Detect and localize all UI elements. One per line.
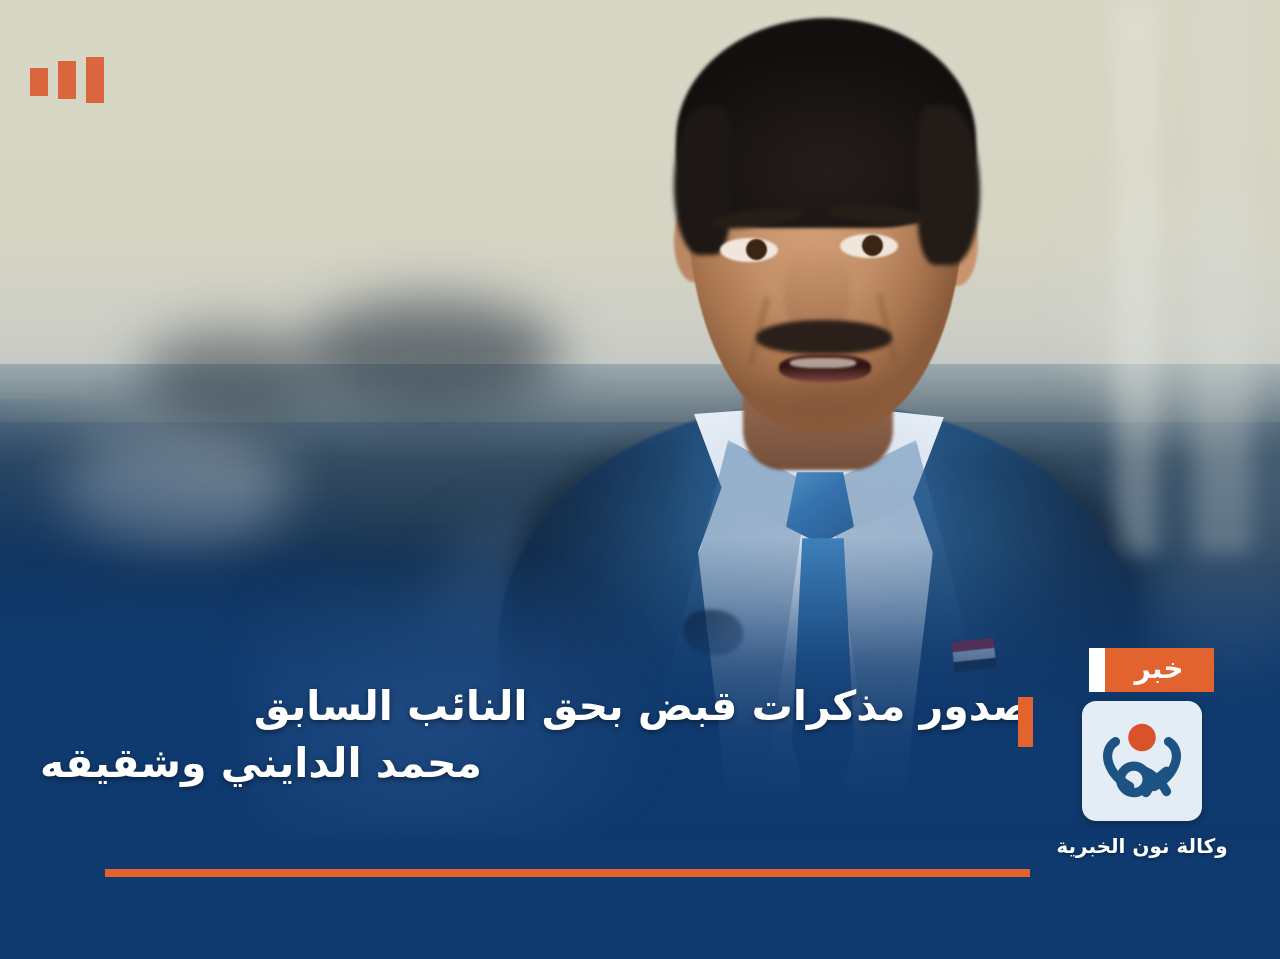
headline-underline-rule [105,869,1030,877]
headline-line-2: محمد الدايني وشقيقه [40,735,1032,792]
teeth [790,358,856,368]
agency-name: وكالة نون الخبرية [1056,834,1227,858]
brand-block: خبر وكالة نون الخبرية [1052,648,1232,858]
mustache [756,320,892,354]
watermark-bar [86,57,104,103]
news-card: صدور مذكرات قبض بحق النائب السابق محمد ا… [0,0,1280,959]
news-badge-label: خبر [1105,648,1214,692]
news-badge-cap [1089,648,1105,692]
headline-accent-tick [1018,697,1033,747]
three-bar-watermark-icon [30,57,104,103]
headline-line-1: صدور مذكرات قبض بحق النائب السابق [40,678,1032,735]
hair [674,105,730,255]
agency-logo [1082,701,1202,821]
news-badge: خبر [1089,648,1214,692]
wall-light-band [1196,0,1251,556]
iris [746,239,767,260]
headline: صدور مذكرات قبض بحق النائب السابق محمد ا… [40,678,1032,791]
watermark-bar [58,61,76,99]
iris [862,235,883,256]
chin-shadow [744,380,894,438]
noon-logo-icon [1091,710,1193,812]
watermark-bar [30,68,48,96]
logo-orange-dot [1128,724,1156,752]
